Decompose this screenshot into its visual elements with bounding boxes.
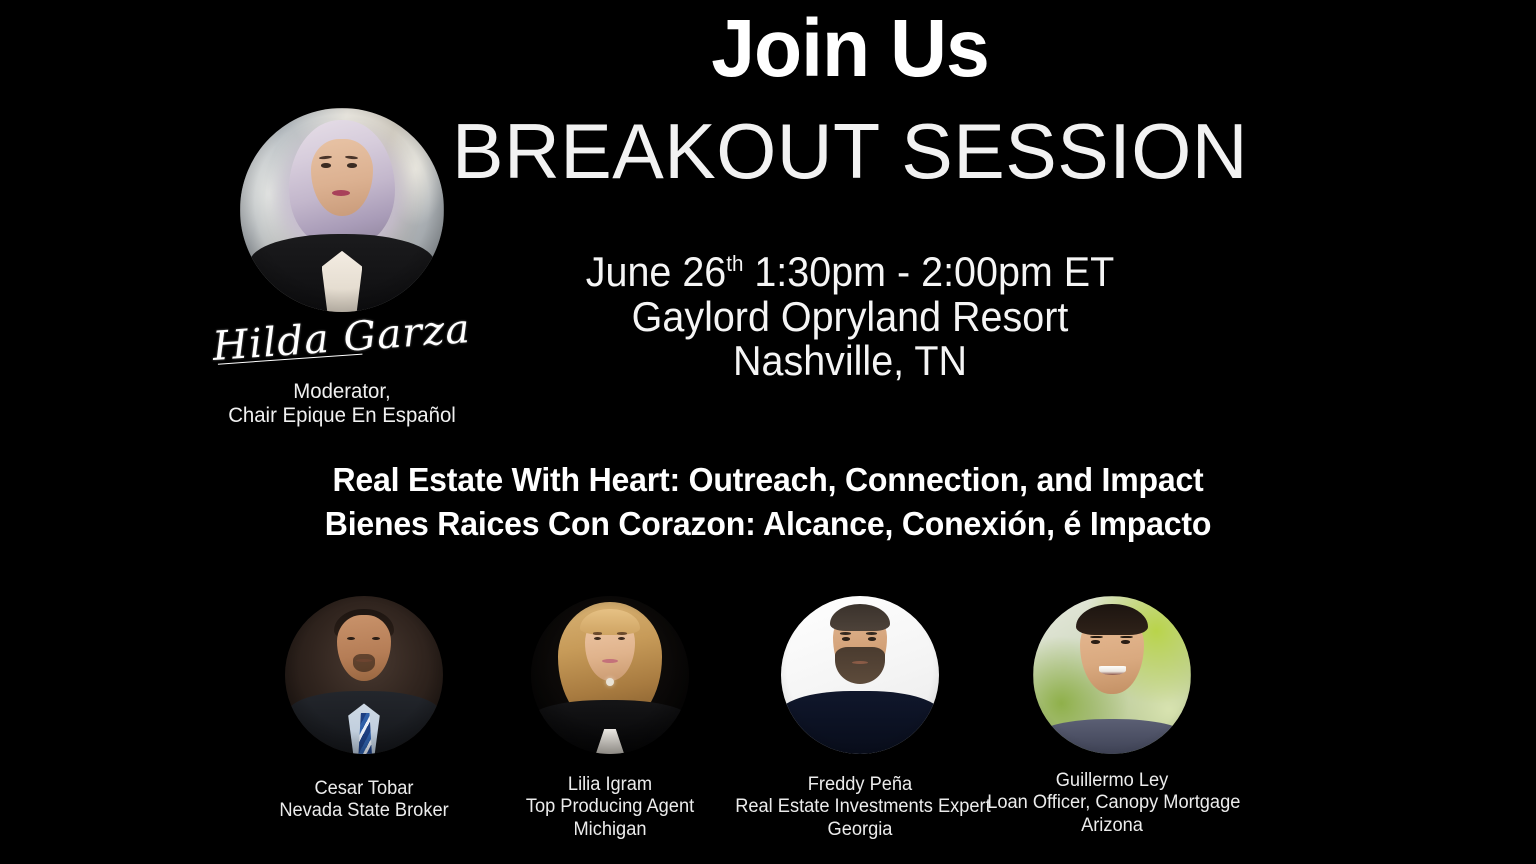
speaker-name: Freddy Peña [735,774,985,796]
speaker-caption: Cesar Tobar Nevada State Broker [239,778,489,823]
speaker-photo-lilia-igram [531,596,689,754]
speaker-name: Guillermo Ley [987,770,1237,792]
speaker-name: Cesar Tobar [239,778,489,800]
moderator-signature: Hilda Garza [201,304,483,375]
speaker-photo-cesar-tobar [285,596,443,754]
flyer-canvas: Join Us BREAKOUT SESSION June 26th 1:30p… [0,0,1536,864]
headline-block: Join Us BREAKOUT SESSION [420,8,1280,195]
speaker-card: Freddy Peña Real Estate Investments Expe… [730,596,990,841]
speaker-name: Lilia Igram [485,774,735,796]
speaker-location: Georgia [735,819,985,841]
speaker-photo-guillermo-ley [1033,596,1191,754]
photo-vignette [531,596,689,754]
photo-vignette [1033,596,1191,754]
session-title-block: Real Estate With Heart: Outreach, Connec… [138,458,1399,546]
event-time: 1:30pm - 2:00pm ET [754,248,1114,295]
photo-vignette [781,596,939,754]
session-title-spanish: Bienes Raices Con Corazon: Alcance, Cone… [138,502,1399,546]
speaker-title: Loan Officer, Canopy Mortgage [987,792,1237,814]
event-date-ordinal: th [726,251,743,276]
speaker-caption: Lilia Igram Top Producing Agent Michigan [485,774,735,841]
photo-vignette [285,596,443,754]
speaker-card: Guillermo Ley Loan Officer, Canopy Mortg… [982,596,1242,837]
event-venue: Gaylord Opryland Resort [455,295,1245,340]
moderator-role-line-1: Moderator, [197,380,488,404]
session-title-english: Real Estate With Heart: Outreach, Connec… [138,458,1399,502]
photo-vignette [240,108,444,312]
breakout-session-heading: BREAKOUT SESSION [424,108,1275,195]
speaker-card: Cesar Tobar Nevada State Broker [234,596,494,823]
moderator-role-line-2: Chair Epique En Español [197,404,488,428]
event-datetime-line: June 26th 1:30pm - 2:00pm ET [455,250,1245,295]
moderator-role-block: Moderator, Chair Epique En Español [197,380,488,427]
speaker-list: Cesar Tobar Nevada State Broker [218,596,1298,864]
event-details-block: June 26th 1:30pm - 2:00pm ET Gaylord Opr… [455,250,1245,384]
event-city: Nashville, TN [455,339,1245,384]
speaker-card: Lilia Igram Top Producing Agent Michigan [480,596,740,841]
speaker-location: Michigan [485,819,735,841]
speaker-title: Nevada State Broker [239,800,489,822]
moderator-photo [240,108,444,312]
speaker-caption: Freddy Peña Real Estate Investments Expe… [735,774,985,841]
speaker-title: Top Producing Agent [485,796,735,818]
moderator-block: Hilda Garza Moderator, Chair Epique En E… [192,108,492,427]
speaker-caption: Guillermo Ley Loan Officer, Canopy Mortg… [987,770,1237,837]
join-us-heading: Join Us [437,8,1263,90]
speaker-title: Real Estate Investments Expert [735,796,985,818]
speaker-photo-freddy-pena [781,596,939,754]
event-date: June 26 [586,248,727,295]
speaker-location: Arizona [987,815,1237,837]
